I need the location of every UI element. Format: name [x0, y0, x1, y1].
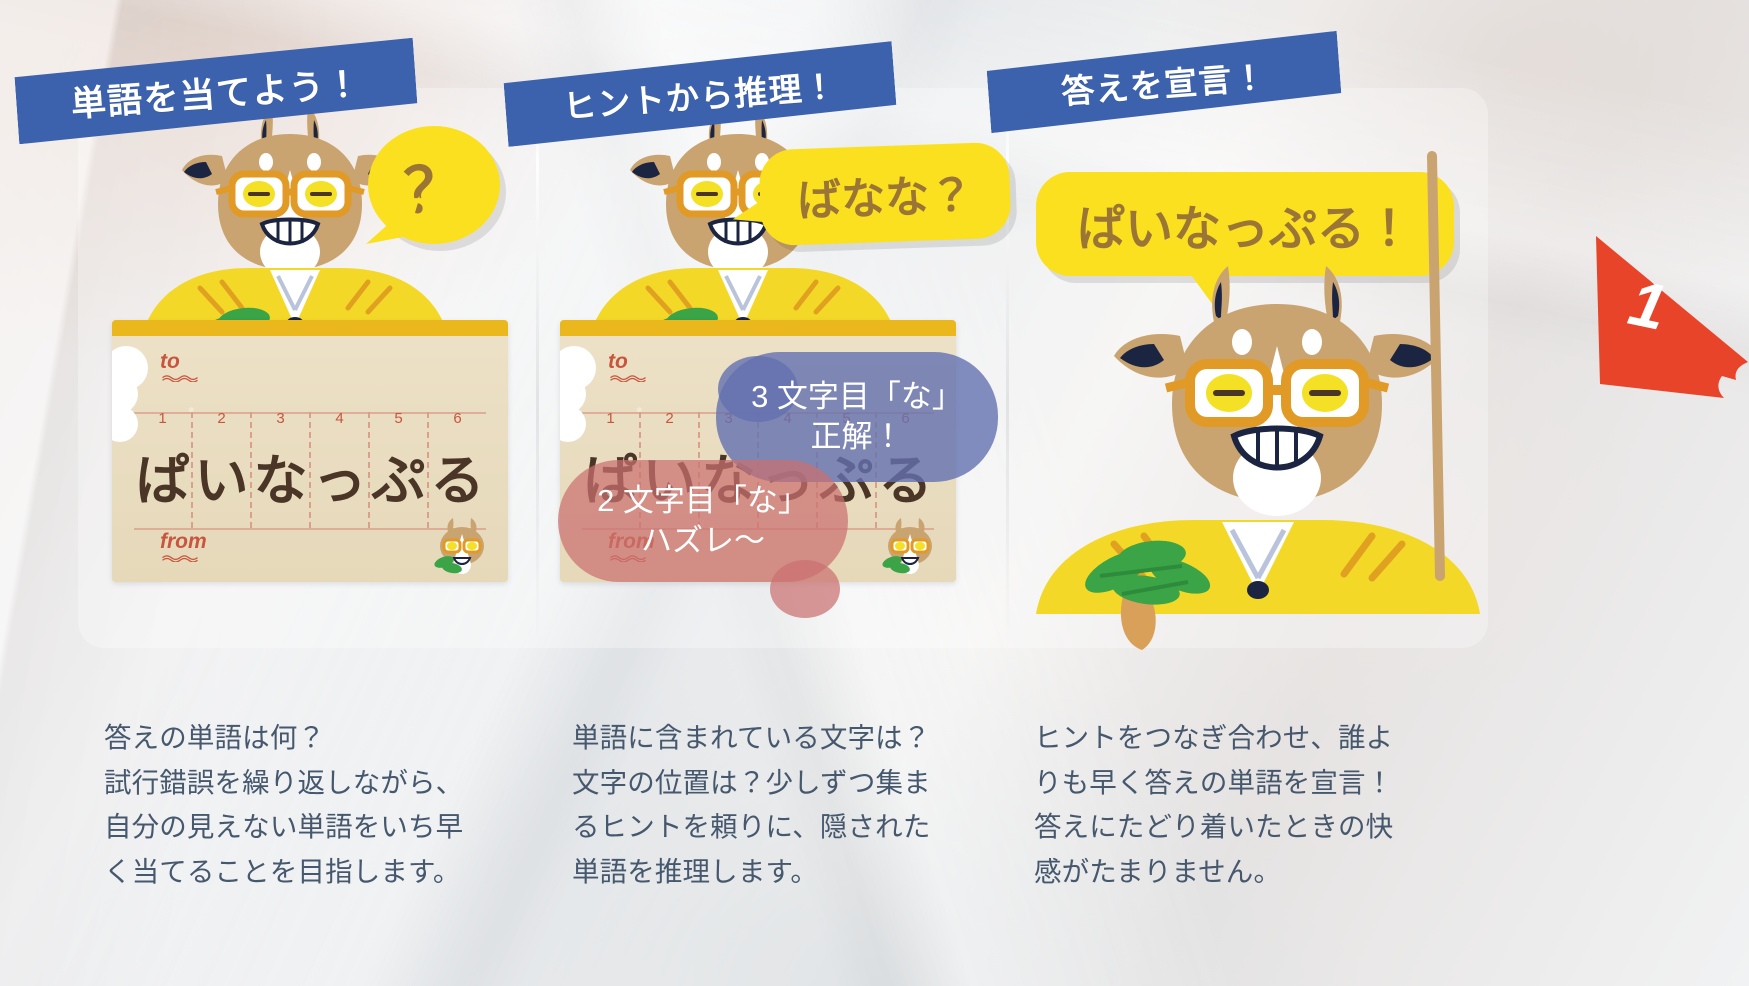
letter-cells-1: 1ぱ 2い 3な 4っ 5ぷ 6る — [134, 412, 486, 528]
letter-cell: 3な — [250, 412, 309, 528]
flag-pole-icon — [1410, 146, 1470, 586]
hint-correct-line2: 正解！ — [811, 417, 904, 457]
cell-letter: い — [195, 454, 249, 508]
question-bubble-1: ？ — [368, 126, 500, 244]
description-line: 試行錯誤を繰り返しながら、 — [104, 761, 496, 806]
declare-bubble-text: ぱいなっぷる！ — [1077, 189, 1413, 259]
description-step-2: 単語に含まれている文字は？ 文字の位置は？少しずつ集ま るヒントを頼りに、隠され… — [572, 716, 964, 894]
hint-wrong-line2: ハズレ〜 — [641, 521, 765, 561]
from-text: from — [160, 530, 207, 553]
letter-cell: 6る — [427, 412, 486, 528]
squiggle-icon — [160, 555, 200, 562]
bubble-tail-icon — [362, 192, 422, 250]
letter-cell: 2い — [191, 412, 250, 528]
description-line: 文字の位置は？少しずつ集ま — [572, 761, 964, 806]
to-text: to — [160, 350, 180, 373]
description-line: ヒントをつなぎ合わせ、誰よ — [1034, 716, 1426, 761]
squiggle-icon — [608, 375, 648, 382]
squiggle-icon — [160, 375, 200, 382]
postcard-to-label: to — [160, 350, 200, 382]
step-card-1: ？ to 1ぱ 2い 3な 4っ 5ぷ 6る — [78, 88, 518, 928]
description-line: 単語に含まれている文字は？ — [572, 716, 964, 761]
description-step-1: 答えの単語は何？ 試行錯誤を繰り返しながら、 自分の見えない単語をいち早 く当て… — [104, 716, 496, 894]
illustration-step-2: ばなな？ to 1ぱ 2い 3な 4っ 5ぷ — [548, 88, 988, 608]
answer-postcard-1: to 1ぱ 2い 3な 4っ 5ぷ 6る from — [112, 320, 508, 582]
cell-letter: る — [431, 454, 485, 508]
cell-number: 2 — [217, 410, 225, 427]
description-line: 単語を推理します。 — [572, 850, 964, 895]
hint-wrong-line1: 2 文字目「な」 — [597, 481, 809, 521]
cell-number: 2 — [665, 410, 673, 427]
description-line: 感がたまりません。 — [1034, 850, 1426, 895]
cell-letter: な — [254, 454, 308, 508]
cell-number: 1 — [158, 410, 166, 427]
step-card-3: ぱいなっぷる！ — [1018, 88, 1458, 928]
illustration-step-3: ぱいなっぷる！ — [1018, 88, 1458, 608]
winner-flag-icon — [1588, 234, 1749, 434]
mini-goat-icon — [430, 516, 494, 576]
description-line: るヒントを頼りに、隠された — [572, 805, 964, 850]
declare-bubble-3: ぱいなっぷる！ — [1036, 172, 1454, 276]
description-line: りも早く答えの単語を宣言！ — [1034, 761, 1426, 806]
column-divider-1 — [536, 98, 539, 646]
description-line: く当てることを目指します。 — [104, 850, 496, 895]
hint-wrong-bubble: 2 文字目「な」 ハズレ〜 — [558, 460, 848, 582]
cell-number: 1 — [606, 410, 614, 427]
postcard-top-band — [560, 320, 956, 336]
hint-correct-line1: 3 文字目「な」 — [751, 377, 963, 417]
mini-goat-icon — [878, 516, 942, 576]
cell-number: 4 — [335, 410, 343, 427]
description-step-3: ヒントをつなぎ合わせ、誰よ りも早く答えの単語を宣言！ 答えにたどり着いたときの… — [1034, 716, 1426, 894]
letter-cell: 4っ — [309, 412, 368, 528]
carrot-icon — [1062, 506, 1252, 656]
description-line: 答えの単語は何？ — [104, 716, 496, 761]
illustration-step-1: ？ to 1ぱ 2い 3な 4っ 5ぷ 6る — [78, 88, 518, 608]
guess-bubble-text: ばなな？ — [796, 159, 974, 229]
cell-letter: ぱ — [136, 454, 190, 508]
cell-number: 3 — [276, 410, 284, 427]
description-line: 自分の見えない単語をいち早 — [104, 805, 496, 850]
postcard-to-label: to — [608, 350, 648, 382]
cell-letter: ぷ — [372, 454, 426, 508]
cell-letter: っ — [313, 454, 367, 508]
guess-bubble-2: ばなな？ — [758, 142, 1011, 247]
letter-cell: 5ぷ — [368, 412, 427, 528]
step-card-2: ばなな？ to 1ぱ 2い 3な 4っ 5ぷ — [548, 88, 988, 928]
bubble-tail-icon — [729, 179, 787, 237]
description-line: 答えにたどり着いたときの快 — [1034, 805, 1426, 850]
postcard-top-band — [112, 320, 508, 336]
letter-cell: 1ぱ — [134, 412, 191, 528]
cell-number: 5 — [394, 410, 402, 427]
banner-step-3-label: 答えを宣言！ — [1060, 50, 1269, 113]
postcard-from-label: from — [160, 530, 207, 562]
to-text: to — [608, 350, 628, 373]
cell-number: 6 — [453, 410, 461, 427]
